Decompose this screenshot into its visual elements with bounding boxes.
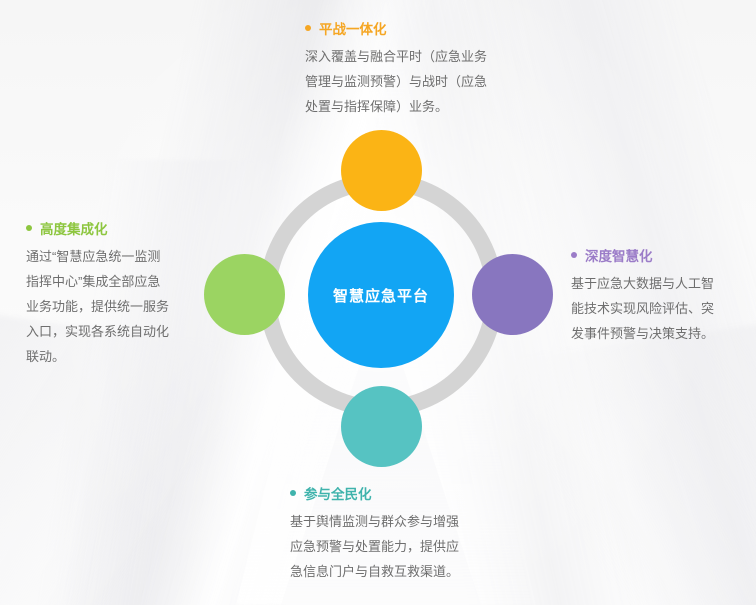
body-line: 基于应急大数据与人工智 bbox=[571, 271, 746, 296]
body-line: 处置与指挥保障）业务。 bbox=[305, 94, 515, 119]
body-line: 急信息门户与自救互救渠道。 bbox=[290, 559, 505, 584]
body-line: 入口，实现各系统自动化 bbox=[26, 319, 206, 344]
feature-title-bottom: 参与全民化 bbox=[304, 483, 372, 503]
body-line: 管理与监测预警）与战时（应急 bbox=[305, 69, 515, 94]
feature-heading-top: 平战一体化 bbox=[305, 18, 515, 38]
node-circle-right[interactable] bbox=[472, 254, 553, 335]
body-line: 联动。 bbox=[26, 344, 206, 369]
body-line: 指挥中心”集成全部应急 bbox=[26, 269, 206, 294]
node-circle-bottom[interactable] bbox=[341, 386, 422, 467]
body-line: 基于舆情监测与群众参与增强 bbox=[290, 509, 505, 534]
body-line: 业务功能，提供统一服务 bbox=[26, 294, 206, 319]
feature-body-top: 深入覆盖与融合平时（应急业务 管理与监测预警）与战时（应急 处置与指挥保障）业务… bbox=[305, 44, 515, 119]
feature-block-top: 平战一体化 深入覆盖与融合平时（应急业务 管理与监测预警）与战时（应急 处置与指… bbox=[305, 18, 515, 119]
bullet-dot-icon bbox=[26, 225, 32, 231]
node-circle-left[interactable] bbox=[204, 254, 285, 335]
feature-block-bottom: 参与全民化 基于舆情监测与群众参与增强 应急预警与处置能力，提供应 急信息门户与… bbox=[290, 483, 505, 584]
infographic-canvas: 智慧应急平台 平战一体化 深入覆盖与融合平时（应急业务 管理与监测预警）与战时（… bbox=[0, 0, 756, 605]
feature-body-right: 基于应急大数据与人工智 能技术实现风险评估、突 发事件预警与决策支持。 bbox=[571, 271, 746, 346]
feature-heading-bottom: 参与全民化 bbox=[290, 483, 505, 503]
bullet-dot-icon bbox=[571, 252, 577, 258]
feature-block-right: 深度智慧化 基于应急大数据与人工智 能技术实现风险评估、突 发事件预警与决策支持… bbox=[571, 245, 746, 346]
center-hub[interactable]: 智慧应急平台 bbox=[308, 222, 454, 368]
feature-block-left: 高度集成化 通过“智慧应急统一监测 指挥中心”集成全部应急 业务功能，提供统一服… bbox=[26, 218, 206, 369]
body-line: 深入覆盖与融合平时（应急业务 bbox=[305, 44, 515, 69]
body-line: 能技术实现风险评估、突 bbox=[571, 296, 746, 321]
bullet-dot-icon bbox=[305, 25, 311, 31]
body-line: 通过“智慧应急统一监测 bbox=[26, 244, 206, 269]
feature-body-bottom: 基于舆情监测与群众参与增强 应急预警与处置能力，提供应 急信息门户与自救互救渠道… bbox=[290, 509, 505, 584]
feature-heading-left: 高度集成化 bbox=[26, 218, 206, 238]
bullet-dot-icon bbox=[290, 490, 296, 496]
body-line: 应急预警与处置能力，提供应 bbox=[290, 534, 505, 559]
feature-title-top: 平战一体化 bbox=[319, 18, 387, 38]
feature-title-right: 深度智慧化 bbox=[585, 245, 653, 265]
body-line: 发事件预警与决策支持。 bbox=[571, 321, 746, 346]
node-circle-top[interactable] bbox=[341, 130, 422, 211]
feature-title-left: 高度集成化 bbox=[40, 218, 108, 238]
feature-heading-right: 深度智慧化 bbox=[571, 245, 746, 265]
feature-body-left: 通过“智慧应急统一监测 指挥中心”集成全部应急 业务功能，提供统一服务 入口，实… bbox=[26, 244, 206, 369]
center-hub-label: 智慧应急平台 bbox=[333, 285, 429, 306]
